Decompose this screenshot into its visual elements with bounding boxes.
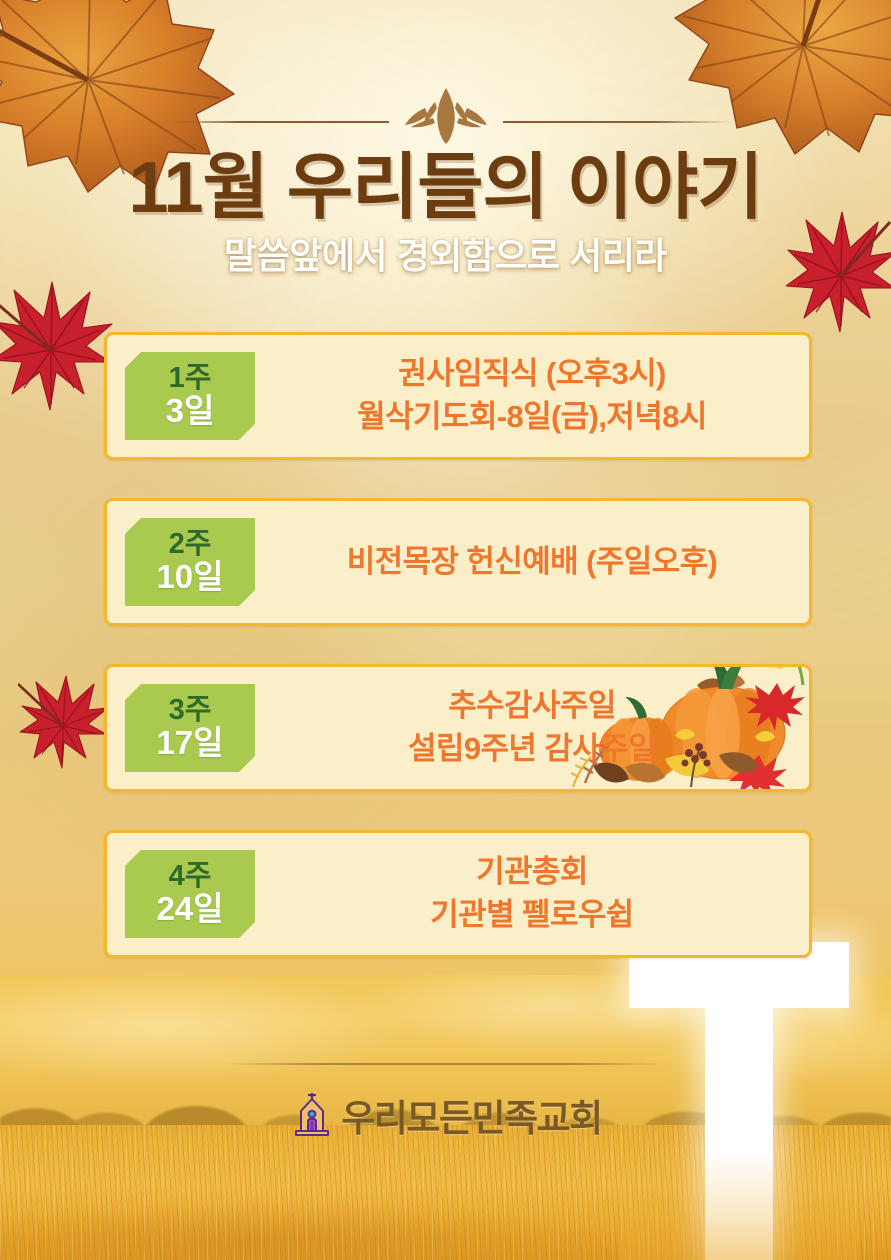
event-line-4-2: 기관별 펠로우쉽 (430, 894, 633, 937)
page-title: 11월 우리들의 이야기 (0, 128, 891, 233)
week-tag-4: 4주 24일 (125, 850, 255, 938)
week-label-4: 4주 (169, 861, 212, 892)
wheat-field (0, 1125, 891, 1260)
church-brand: 우리모든민족교회 (0, 1088, 891, 1142)
page-subtitle: 말씀앞에서 경외함으로 서리라 (0, 227, 891, 279)
week-tag-3: 3주 17일 (125, 684, 255, 772)
event-card-week2[interactable]: 2주 10일 비전목장 헌신예배 (주일오후) (104, 498, 812, 626)
event-body-2: 비전목장 헌신예배 (주일오후) (255, 501, 809, 623)
red-maple-leaf-lower-left-icon (18, 662, 110, 770)
footer-divider (225, 1063, 665, 1065)
week-label-2: 2주 (169, 529, 212, 560)
day-label-1: 3일 (166, 394, 215, 429)
event-line-1-2: 월삭기도회-8일(금),저녁8시 (357, 396, 707, 439)
event-body-4: 기관총회 기관별 펠로우쉽 (255, 833, 809, 955)
event-card-week1[interactable]: 1주 3일 권사임직식 (오후3시) 월삭기도회-8일(금),저녁8시 (104, 332, 812, 460)
event-card-week4[interactable]: 4주 24일 기관총회 기관별 펠로우쉽 (104, 830, 812, 958)
week-tag-1: 1주 3일 (125, 352, 255, 440)
day-label-2: 10일 (156, 560, 223, 595)
day-label-4: 24일 (156, 892, 223, 927)
event-line-3-2: 설립9주년 감사주일 (408, 728, 656, 771)
event-line-3-1: 추수감사주일 (448, 685, 616, 728)
week-label-1: 1주 (169, 363, 212, 394)
week-tag-2: 2주 10일 (125, 518, 255, 606)
poster-canvas: 11월 우리들의 이야기 말씀앞에서 경외함으로 서리라 1주 3일 권사임직식… (0, 0, 891, 1260)
ornament-rule-right (503, 121, 731, 123)
red-maple-leaf-left-icon (0, 262, 114, 412)
event-card-list: 1주 3일 권사임직식 (오후3시) 월삭기도회-8일(금),저녁8시 2주 1… (104, 332, 812, 996)
church-name: 우리모든민족교회 (341, 1088, 601, 1142)
event-card-week3[interactable]: 3주 17일 추수감사주일 설립9주년 감사주일 (104, 664, 812, 792)
day-label-3: 17일 (156, 726, 223, 761)
ornament-rule-left (161, 121, 389, 123)
week-label-3: 3주 (169, 695, 212, 726)
event-line-4-1: 기관총회 (476, 851, 588, 894)
event-line-1-1: 권사임직식 (오후3시) (398, 353, 665, 396)
event-line-2-1: 비전목장 헌신예배 (주일오후) (347, 541, 718, 584)
event-body-1: 권사임직식 (오후3시) 월삭기도회-8일(금),저녁8시 (255, 335, 809, 457)
church-building-icon (289, 1090, 335, 1140)
event-body-3: 추수감사주일 설립9주년 감사주일 (255, 667, 809, 789)
